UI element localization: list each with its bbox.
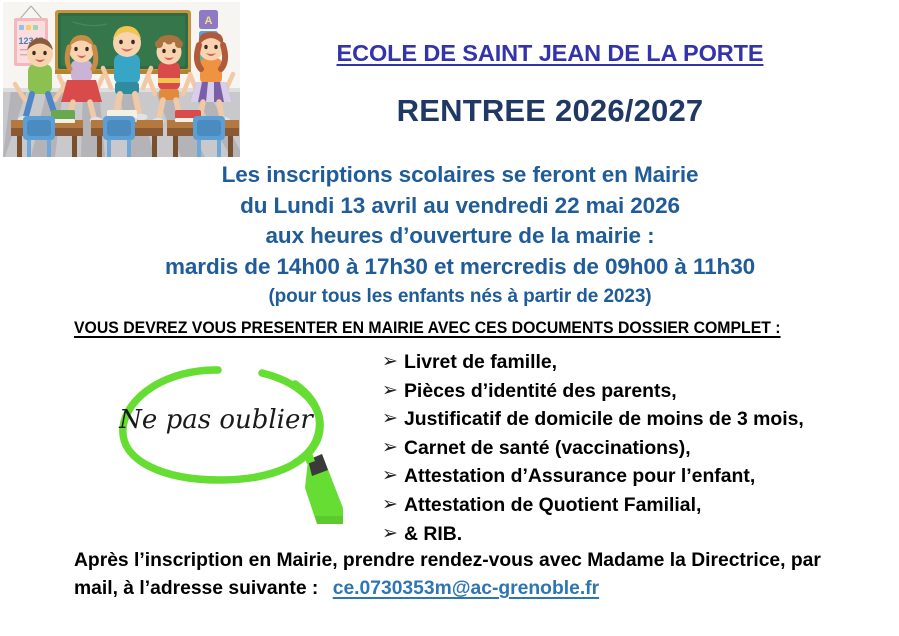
closing-line-2-prefix: mail, à l’adresse suivante :: [74, 578, 318, 599]
list-item-label: Attestation d’Assurance pour l’enfant,: [404, 465, 755, 487]
arrow-bullet-icon: ➢: [382, 462, 398, 491]
list-item: ➢ Carnet de santé (vaccinations),: [382, 434, 852, 463]
required-documents-list: ➢ Livret de famille, ➢ Pièces d’identité…: [382, 348, 852, 548]
email-link[interactable]: ce.0730353m@ac-grenoble.fr: [333, 578, 599, 599]
list-item-label: Justificatif de domicile de moins de 3 m…: [404, 408, 804, 430]
closing-line-1: Après l’inscription en Mairie, prendre r…: [74, 547, 869, 575]
documents-heading-text: VOUS DEVREZ VOUS PRESENTER EN MAIRIE AVE…: [74, 319, 781, 337]
list-item: ➢ Livret de famille,: [382, 348, 852, 377]
ne-pas-oublier-graphic: Ne pas oublier: [112, 356, 364, 524]
info-line-3: aux heures d’ouverture de la mairie :: [60, 221, 860, 252]
list-item: ➢ Attestation de Quotient Familial,: [382, 491, 852, 520]
arrow-bullet-icon: ➢: [382, 405, 398, 434]
arrow-bullet-icon: ➢: [382, 377, 398, 406]
school-title: ECOLE DE SAINT JEAN DE LA PORTE: [240, 40, 860, 67]
list-item: ➢ Justificatif de domicile de moins de 3…: [382, 405, 852, 434]
list-item-label: & RIB.: [404, 523, 462, 545]
arrow-bullet-icon: ➢: [382, 491, 398, 520]
closing-paragraph: Après l’inscription en Mairie, prendre r…: [74, 547, 869, 603]
list-item-label: Carnet de santé (vaccinations),: [404, 437, 691, 459]
info-line-5-age-note: (pour tous les enfants nés à partir de 2…: [60, 284, 860, 310]
list-item-label: Livret de famille,: [404, 351, 557, 373]
list-item: ➢ & RIB.: [382, 520, 852, 549]
classroom-illustration: 12345 A B C: [3, 2, 240, 157]
info-line-2: du Lundi 13 avril au vendredi 22 mai 202…: [60, 191, 860, 222]
enrollment-info-block: Les inscriptions scolaires se feront en …: [60, 160, 860, 310]
school-title-text: ECOLE DE SAINT JEAN DE LA PORTE: [337, 40, 764, 66]
arrow-bullet-icon: ➢: [382, 520, 398, 549]
reminder-text-label: Ne pas oublier: [118, 405, 314, 435]
list-item: ➢ Attestation d’Assurance pour l’enfant,: [382, 462, 852, 491]
list-item-label: Attestation de Quotient Familial,: [404, 494, 701, 516]
svg-text:A: A: [205, 15, 213, 27]
list-item: ➢ Pièces d’identité des parents,: [382, 377, 852, 406]
page-title: RENTREE 2026/2027: [240, 93, 860, 129]
documents-heading: VOUS DEVREZ VOUS PRESENTER EN MAIRIE AVE…: [74, 319, 836, 338]
list-item-label: Pièces d’identité des parents,: [404, 380, 677, 402]
arrow-bullet-icon: ➢: [382, 434, 398, 463]
flyer-page: 12345 A B C: [0, 0, 899, 636]
info-line-4: mardis de 14h00 à 17h30 et mercredis de …: [60, 252, 860, 283]
info-line-1: Les inscriptions scolaires se feront en …: [60, 160, 860, 191]
arrow-bullet-icon: ➢: [382, 348, 398, 377]
closing-line-2: mail, à l’adresse suivante : ce.0730353m…: [74, 575, 869, 603]
